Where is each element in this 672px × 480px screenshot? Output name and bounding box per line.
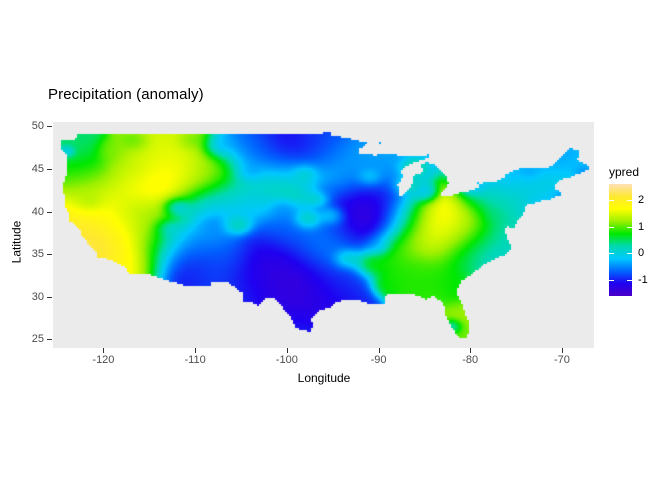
legend-tick-mark — [609, 253, 614, 254]
x-tick-label: -120 — [92, 354, 114, 366]
legend-tick-mark — [609, 227, 614, 228]
y-tick-label: 40 — [32, 206, 44, 218]
legend-tick-mark — [609, 200, 614, 201]
plot-panel — [53, 122, 594, 348]
y-tick-mark — [47, 339, 52, 340]
legend-tick-mark — [609, 280, 614, 281]
legend-body: 210-1 — [607, 184, 667, 304]
y-tick-label: 30 — [32, 291, 44, 303]
x-tick-label: -90 — [371, 354, 387, 366]
page-title: Precipitation (anomaly) — [48, 86, 204, 103]
y-tick-mark — [47, 126, 52, 127]
x-tick-mark — [287, 348, 288, 353]
x-tick-mark — [379, 348, 380, 353]
x-tick-mark — [562, 348, 563, 353]
y-tick-label: 45 — [32, 163, 44, 175]
x-tick-mark — [195, 348, 196, 353]
y-tick-mark — [47, 297, 52, 298]
legend-tick-label: -1 — [638, 274, 648, 286]
x-tick-mark — [103, 348, 104, 353]
y-tick-label: 35 — [32, 248, 44, 260]
x-tick-mark — [470, 348, 471, 353]
legend: ypred 210-1 — [607, 165, 667, 304]
y-tick-label: 25 — [32, 333, 44, 345]
y-tick-mark — [47, 254, 52, 255]
chart-figure: Precipitation (anomaly) Latitude Longitu… — [0, 0, 672, 480]
legend-tick-mark — [627, 253, 632, 254]
legend-tick-mark — [627, 200, 632, 201]
legend-tick-label: 1 — [638, 221, 644, 233]
y-tick-label: 50 — [32, 120, 44, 132]
legend-title: ypred — [609, 165, 667, 179]
y-axis-title: Latitude — [9, 221, 23, 264]
legend-tick-mark — [627, 280, 632, 281]
legend-tick-label: 2 — [638, 194, 644, 206]
x-axis-title: Longitude — [0, 371, 648, 385]
y-tick-mark — [47, 212, 52, 213]
y-tick-mark — [47, 169, 52, 170]
x-tick-label: -100 — [276, 354, 298, 366]
legend-tick-label: 0 — [638, 247, 644, 259]
x-tick-label: -110 — [185, 354, 206, 366]
legend-tick-mark — [627, 227, 632, 228]
precipitation-anomaly-heatmap — [53, 122, 594, 348]
x-tick-label: -80 — [462, 354, 478, 366]
x-tick-label: -70 — [554, 354, 570, 366]
